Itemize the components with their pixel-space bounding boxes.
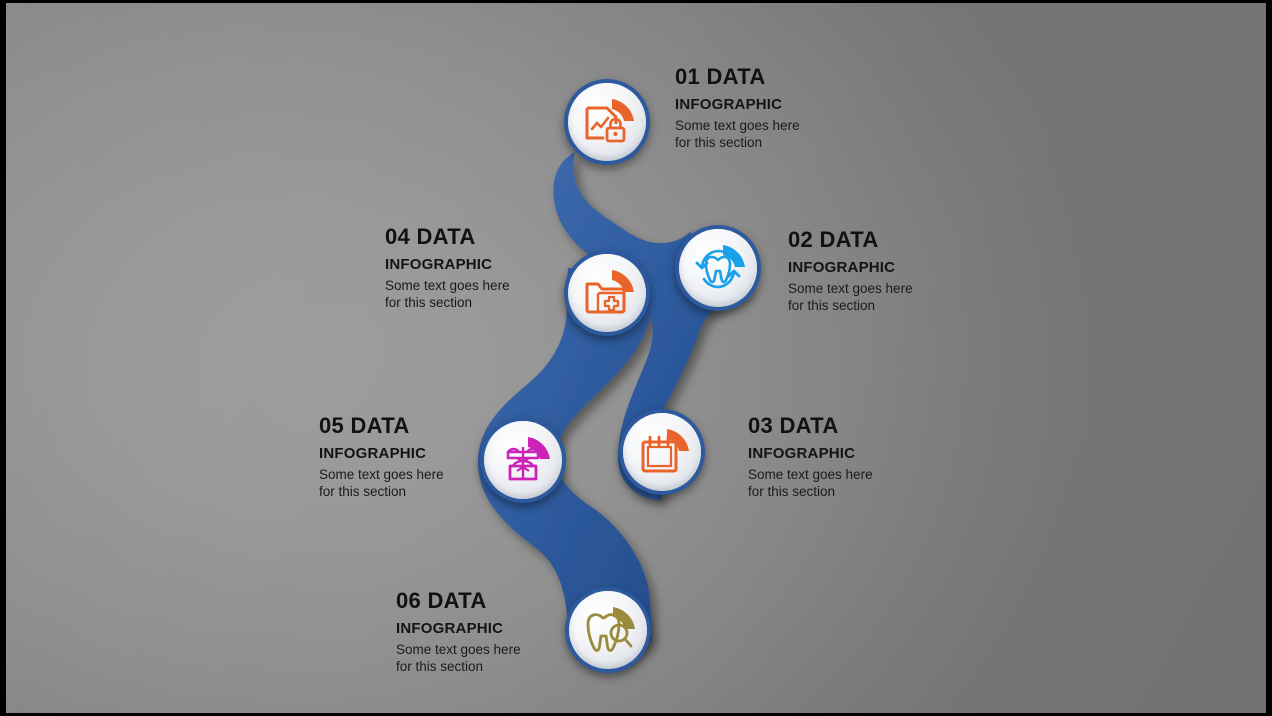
node-04-body: Some text goes here for this section (385, 278, 510, 312)
label-block-06: 06 DATA INFOGRAPHIC Some text goes here … (396, 589, 521, 676)
label-block-02: 02 DATA INFOGRAPHIC Some text goes here … (788, 228, 913, 315)
node-06-body: Some text goes here for this section (396, 642, 521, 676)
node-02-heading: 02 DATA (788, 228, 913, 251)
node-01-body: Some text goes here for this section (675, 118, 800, 152)
tooth-search-icon (569, 591, 647, 669)
node-04-disc (568, 254, 646, 332)
node-05-body: Some text goes here for this section (319, 467, 444, 501)
infographic-screenshot: 01 DATA INFOGRAPHIC Some text goes here … (0, 0, 1272, 716)
label-block-01: 01 DATA INFOGRAPHIC Some text goes here … (675, 65, 800, 152)
tooth-recycle-icon (679, 229, 757, 307)
node-01-subheading: INFOGRAPHIC (675, 97, 800, 113)
node-05-disc (484, 421, 562, 499)
node-03-disc (623, 413, 701, 491)
node-02-subheading: INFOGRAPHIC (788, 260, 913, 276)
node-03-subheading: INFOGRAPHIC (748, 446, 873, 462)
node-03[interactable] (619, 409, 705, 495)
node-01[interactable] (564, 79, 650, 165)
label-block-05: 05 DATA INFOGRAPHIC Some text goes here … (319, 414, 444, 501)
node-01-disc (568, 83, 646, 161)
node-06-heading: 06 DATA (396, 589, 521, 612)
folder-medical-cross-icon (568, 254, 646, 332)
document-chart-lock-icon (568, 83, 646, 161)
node-05[interactable] (480, 417, 566, 503)
dental-implant-icon (484, 421, 562, 499)
node-06-disc (569, 591, 647, 669)
node-04[interactable] (564, 250, 650, 336)
calendar-icon (623, 413, 701, 491)
node-05-subheading: INFOGRAPHIC (319, 446, 444, 462)
node-05-heading: 05 DATA (319, 414, 444, 437)
label-block-03: 03 DATA INFOGRAPHIC Some text goes here … (748, 414, 873, 501)
node-02[interactable] (675, 225, 761, 311)
node-03-heading: 03 DATA (748, 414, 873, 437)
node-06[interactable] (565, 587, 651, 673)
node-06-subheading: INFOGRAPHIC (396, 621, 521, 637)
node-04-heading: 04 DATA (385, 225, 510, 248)
node-02-disc (679, 229, 757, 307)
label-block-04: 04 DATA INFOGRAPHIC Some text goes here … (385, 225, 510, 312)
node-01-heading: 01 DATA (675, 65, 800, 88)
node-02-body: Some text goes here for this section (788, 281, 913, 315)
node-03-body: Some text goes here for this section (748, 467, 873, 501)
node-04-subheading: INFOGRAPHIC (385, 257, 510, 273)
